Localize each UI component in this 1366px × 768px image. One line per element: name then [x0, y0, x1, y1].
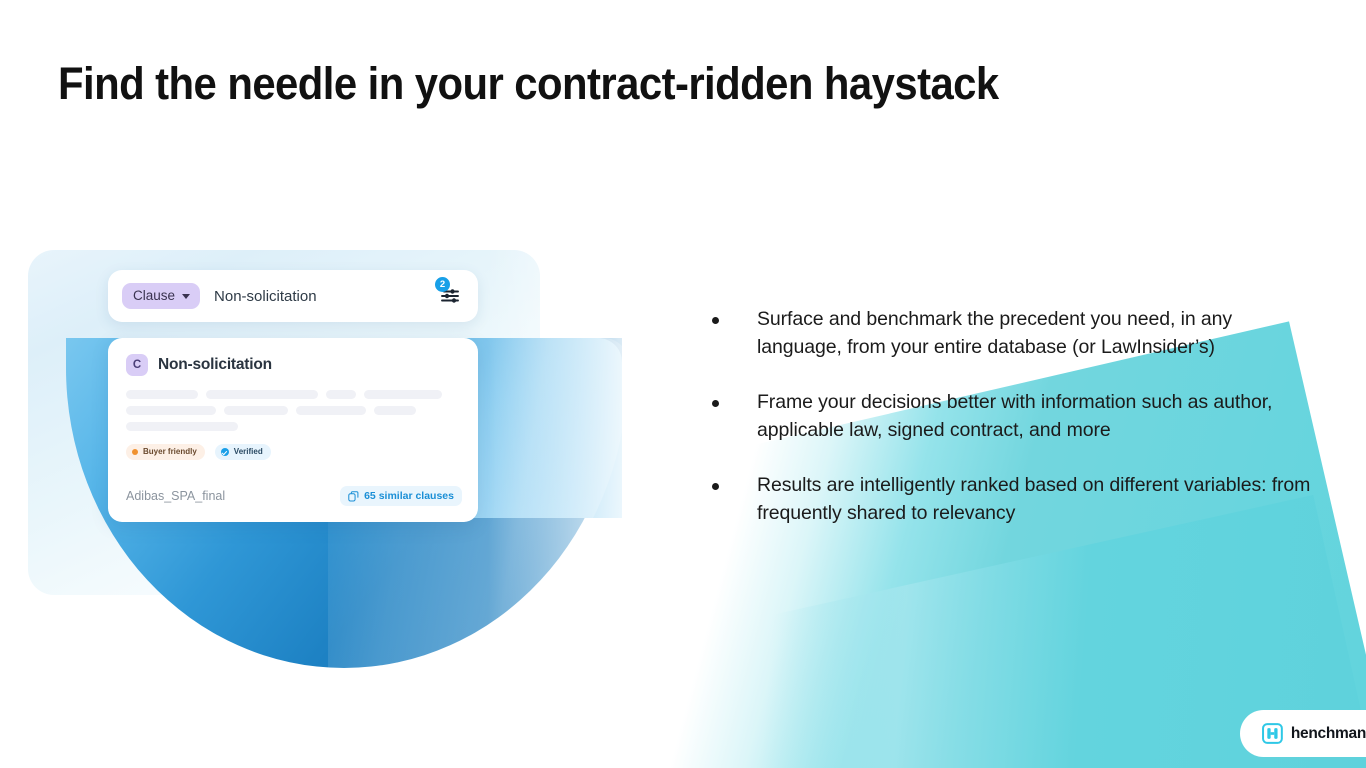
brand-wordmark: henchman [1291, 725, 1366, 743]
page-title: Find the needle in your contract-ridden … [58, 58, 999, 110]
tag-verified[interactable]: Verified [215, 444, 271, 460]
result-card-title: Non-solicitation [158, 356, 272, 374]
bullet-text: Frame your decisions better with informa… [757, 389, 1312, 444]
search-bar-card[interactable]: Clause Non-solicitation [108, 270, 478, 322]
list-item: Frame your decisions better with informa… [712, 389, 1312, 444]
bullet-text: Results are intelligently ranked based o… [757, 472, 1312, 527]
blue-check-icon [221, 448, 229, 456]
slide-canvas: Find the needle in your contract-ridden … [0, 0, 1366, 768]
product-mockup-illustration: Clause Non-solicitation [28, 250, 628, 670]
result-card-footer: Adibas_SPA_final 65 similar clauses [126, 486, 462, 506]
similar-clauses-chip[interactable]: 65 similar clauses [340, 486, 462, 506]
bullet-text: Surface and benchmark the precedent you … [757, 306, 1312, 361]
bullet-list: Surface and benchmark the precedent you … [712, 306, 1312, 527]
list-item: Results are intelligently ranked based o… [712, 472, 1312, 527]
clause-result-card[interactable]: C Non-solicitation [108, 338, 478, 522]
skeleton-row [126, 422, 460, 431]
tag-buyer-friendly[interactable]: Buyer friendly [126, 444, 205, 460]
skeleton-row [126, 390, 460, 399]
clause-type-badge: C [126, 354, 148, 376]
orange-dot-icon [132, 449, 138, 455]
brand-logo: henchman [1240, 710, 1366, 757]
bullet-dot-icon [712, 317, 719, 324]
bullet-dot-icon [712, 400, 719, 407]
skeleton-row [126, 406, 460, 415]
clause-filter-pill[interactable]: Clause [122, 283, 200, 309]
chevron-down-icon [182, 294, 190, 299]
tag-verified-label: Verified [234, 447, 263, 457]
bullet-dot-icon [712, 483, 719, 490]
copy-clauses-icon [348, 491, 359, 502]
source-file-name[interactable]: Adibas_SPA_final [126, 489, 225, 503]
result-tag-row: Buyer friendly Verified [126, 444, 460, 460]
clause-filter-label: Clause [133, 289, 175, 303]
list-item: Surface and benchmark the precedent you … [712, 306, 1312, 361]
filter-settings-button[interactable]: 2 [438, 284, 462, 308]
search-query-text[interactable]: Non-solicitation [214, 288, 438, 305]
henchman-h-mark-icon [1262, 723, 1283, 744]
result-card-header: C Non-solicitation [126, 354, 460, 376]
tag-buyer-friendly-label: Buyer friendly [143, 447, 197, 457]
similar-clauses-label: 65 similar clauses [364, 490, 454, 502]
filter-count-badge: 2 [435, 277, 450, 292]
result-text-skeleton [126, 390, 460, 431]
